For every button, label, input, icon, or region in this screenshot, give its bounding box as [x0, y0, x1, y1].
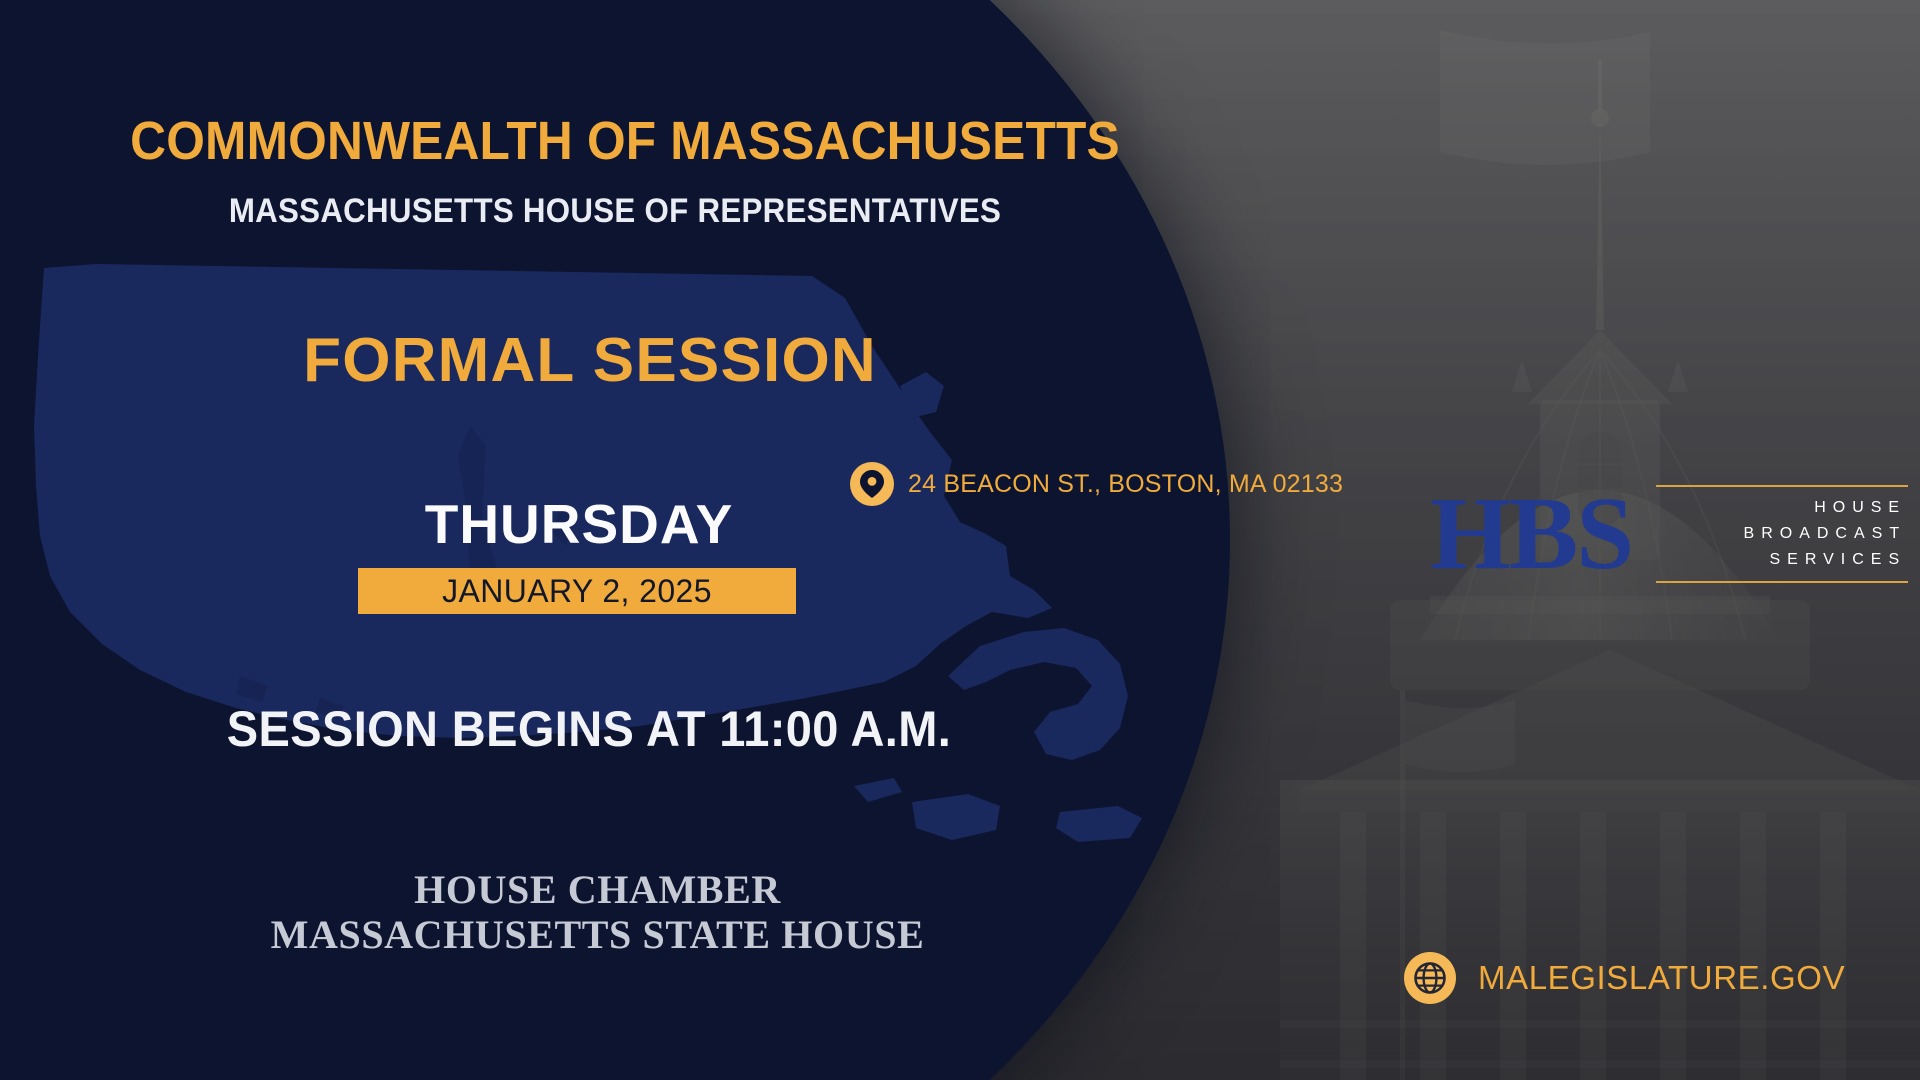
- session-type-heading: FORMAL SESSION: [0, 325, 1180, 396]
- hbs-monogram: HBS: [1430, 487, 1632, 581]
- slate-content: COMMONWEALTH OF MASSACHUSETTS MASSACHUSE…: [0, 0, 1180, 1080]
- globe-icon: [1404, 952, 1456, 1004]
- weekday-label: THURSDAY: [0, 492, 1158, 556]
- website-url[interactable]: MALEGISLATURE.GOV: [1478, 959, 1845, 997]
- jurisdiction-title: COMMONWEALTH OF MASSACHUSETTS: [50, 110, 1200, 172]
- venue-building: MASSACHUSETTS STATE HOUSE: [0, 913, 1195, 958]
- venue-block: HOUSE CHAMBER MASSACHUSETTS STATE HOUSE: [0, 868, 1195, 958]
- hbs-word-services: SERVICES: [1656, 547, 1908, 573]
- hbs-word-broadcast: BROADCAST: [1656, 521, 1908, 547]
- date-text: JANUARY 2, 2025: [442, 573, 712, 610]
- hbs-wordmark: HOUSE BROADCAST SERVICES: [1656, 485, 1908, 583]
- venue-room: HOUSE CHAMBER: [0, 868, 1195, 913]
- broadcast-slate: COMMONWEALTH OF MASSACHUSETTS MASSACHUSE…: [0, 0, 1920, 1080]
- session-start-time: SESSION BEGINS AT 11:00 A.M.: [35, 700, 1142, 758]
- hbs-word-house: HOUSE: [1656, 495, 1908, 521]
- website-row[interactable]: MALEGISLATURE.GOV: [1404, 952, 1845, 1004]
- legislative-body-subtitle: MASSACHUSETTS HOUSE OF REPRESENTATIVES: [49, 192, 1181, 231]
- date-badge: JANUARY 2, 2025: [358, 568, 796, 614]
- hbs-logo: HBS HOUSE BROADCAST SERVICES: [1430, 485, 1908, 583]
